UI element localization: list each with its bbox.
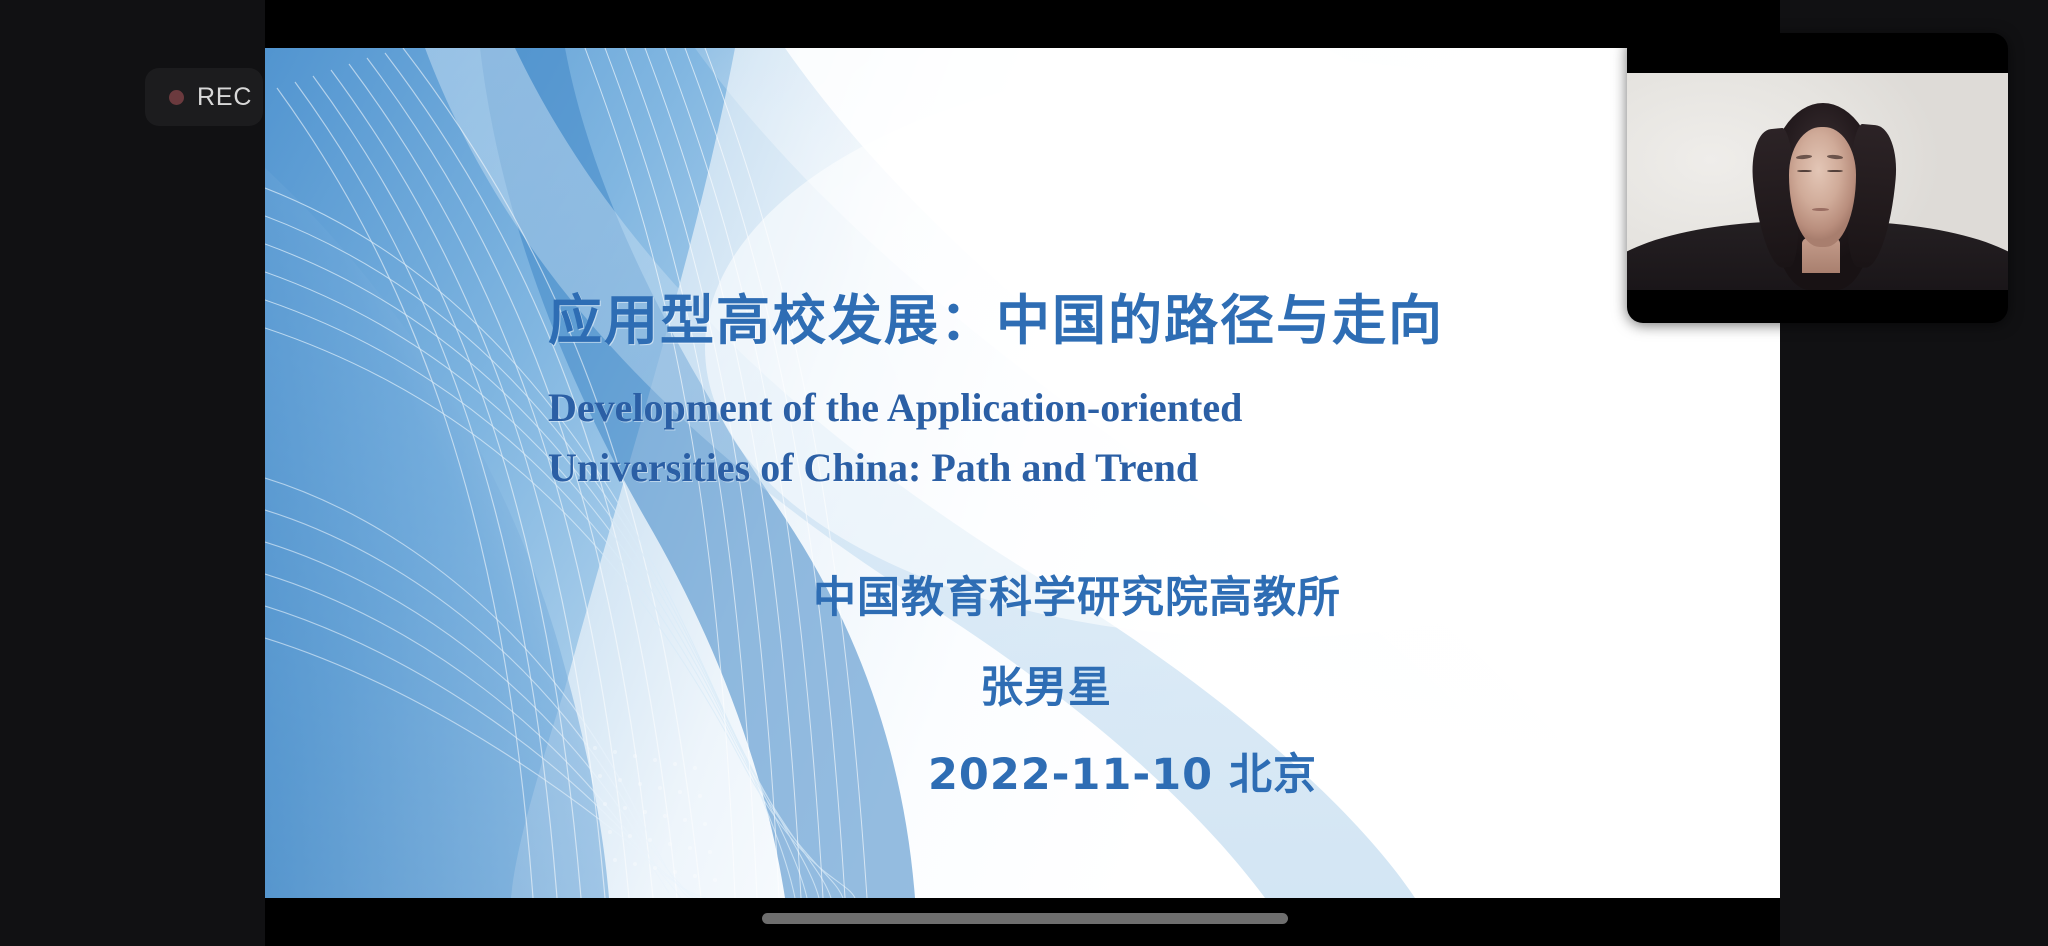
webcam-subject-eye-right xyxy=(1827,170,1842,173)
slide-speaker-name: 张男星 xyxy=(980,653,1112,715)
top-letterbox-band xyxy=(265,0,1780,48)
speaker-webcam-pip[interactable] xyxy=(1627,33,2008,323)
slide-affiliation: 中国教育科学研究院高教所 xyxy=(813,563,1341,625)
record-dot-icon xyxy=(169,90,184,105)
horizontal-scrollbar-thumb[interactable] xyxy=(762,913,1288,924)
recording-indicator-badge[interactable]: REC xyxy=(145,68,263,126)
webcam-subject-mouth xyxy=(1812,208,1830,211)
screen-share-viewer: 应用型高校发展：中国的路径与走向 Development of the Appl… xyxy=(0,0,2048,946)
webcam-video-frame xyxy=(1627,73,2008,290)
webcam-subject-face xyxy=(1789,127,1856,246)
horizontal-scrollbar-track[interactable] xyxy=(265,898,1780,946)
slide-date-location: 2022-11-10 北京 xyxy=(928,740,1317,802)
recording-label: REC xyxy=(197,83,252,112)
slide-title-chinese: 应用型高校发展：中国的路径与走向 xyxy=(548,276,1444,355)
slide-text-block: 应用型高校发展：中国的路径与走向 Development of the Appl… xyxy=(265,48,1780,898)
slide-subtitle-english: Development of the Application-oriented … xyxy=(548,378,1368,498)
presentation-slide[interactable]: 应用型高校发展：中国的路径与走向 Development of the Appl… xyxy=(265,48,1780,898)
webcam-subject-eye-left xyxy=(1797,170,1812,173)
left-letterbox-panel xyxy=(0,0,265,946)
